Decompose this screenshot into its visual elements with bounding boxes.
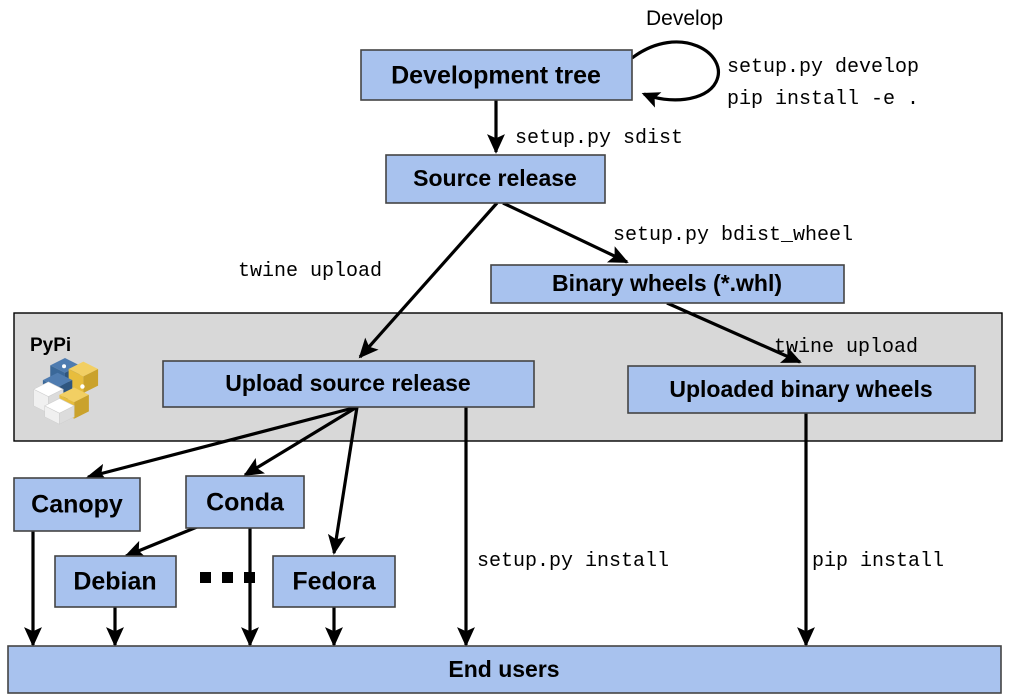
edge-source-release-to-binary-wheels [503, 203, 627, 262]
node-end-users-label: End users [448, 656, 559, 682]
package-distribution-flow-diagram: PyPi [0, 0, 1009, 698]
node-conda[interactable]: Conda [186, 476, 304, 528]
edge-label-twine-upload-wheels: twine upload [774, 336, 918, 359]
node-binary-wheels[interactable]: Binary wheels (*.whl) [491, 265, 844, 303]
node-canopy-label: Canopy [31, 491, 123, 519]
edge-develop-selfloop [632, 42, 718, 100]
node-fedora[interactable]: Fedora [273, 556, 395, 607]
ellipsis-dots [200, 572, 255, 583]
node-development-tree[interactable]: Development tree [361, 50, 632, 100]
diagram-canvas: PyPi [0, 0, 1009, 698]
pypi-group-label: PyPi [30, 335, 71, 356]
edge-label-develop: Develop [646, 7, 723, 30]
node-binary-wheels-label: Binary wheels (*.whl) [552, 270, 782, 296]
node-end-users[interactable]: End users [8, 646, 1001, 693]
node-conda-label: Conda [206, 489, 285, 517]
node-source-release-label: Source release [413, 165, 577, 191]
node-upload-source-release-label: Upload source release [225, 370, 470, 396]
edge-label-setup-py-sdist: setup.py sdist [515, 127, 683, 150]
edge-label-pip-install-e: pip install -e . [727, 88, 919, 111]
node-uploaded-binary-wheels[interactable]: Uploaded binary wheels [628, 366, 975, 413]
edge-label-pip-install: pip install [812, 550, 944, 573]
node-uploaded-binary-wheels-label: Uploaded binary wheels [669, 376, 932, 402]
node-fedora-label: Fedora [292, 568, 376, 596]
node-development-tree-label: Development tree [391, 62, 601, 90]
edge-label-setup-py-install: setup.py install [477, 550, 669, 573]
edge-label-setup-py-develop: setup.py develop [727, 56, 919, 79]
edge-label-setup-py-bdist-wheel: setup.py bdist_wheel [613, 224, 853, 247]
node-canopy[interactable]: Canopy [14, 478, 140, 531]
node-source-release[interactable]: Source release [386, 155, 605, 203]
node-debian-label: Debian [73, 568, 156, 596]
edge-label-twine-upload-source: twine upload [238, 260, 382, 283]
node-upload-source-release[interactable]: Upload source release [163, 361, 534, 407]
node-debian[interactable]: Debian [55, 556, 176, 607]
